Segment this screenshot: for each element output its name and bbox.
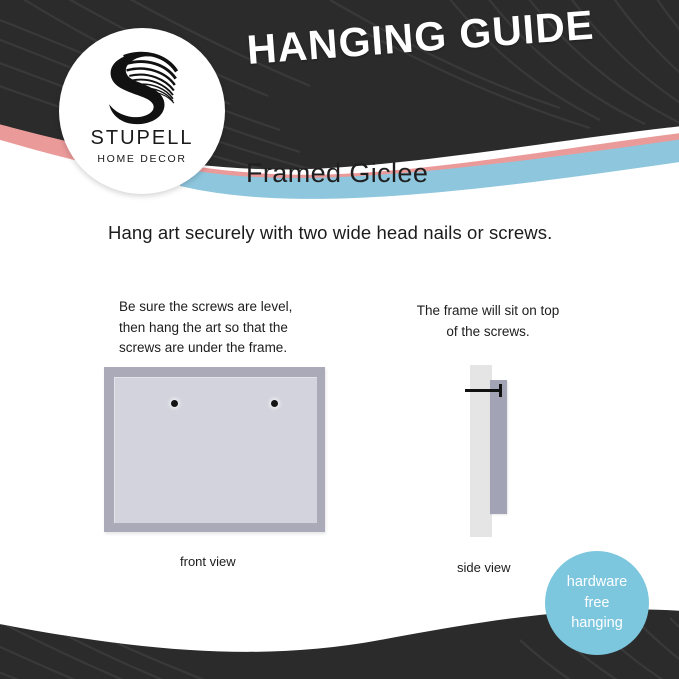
- front-caption-line-2: then hang the art so that the: [119, 318, 339, 339]
- front-caption-line-1: Be sure the screws are level,: [119, 297, 339, 318]
- brand-tagline: HOME DECOR: [97, 154, 186, 165]
- brand-logo-badge: STUPELL HOME DECOR: [59, 28, 225, 194]
- hardware-free-hanging-badge: hardware free hanging: [545, 551, 649, 655]
- side-view-screw-shaft-icon: [465, 389, 501, 392]
- badge-line-3: hanging: [571, 613, 623, 634]
- front-view-caption: Be sure the screws are level, then hang …: [119, 297, 339, 359]
- lead-instruction-text: Hang art securely with two wide head nai…: [108, 222, 552, 244]
- side-view-screw-head-icon: [499, 384, 502, 397]
- side-view-frame: [490, 380, 507, 514]
- side-view-frame-diagram: [470, 365, 532, 537]
- screw-dot-left-icon: [171, 400, 178, 407]
- stupell-swoosh-logo-icon: [96, 44, 188, 126]
- front-view-frame-diagram: [104, 367, 325, 532]
- side-view-caption: The frame will sit on top of the screws.: [400, 301, 576, 342]
- front-view-mat-area: [114, 377, 317, 523]
- side-view-label: side view: [457, 560, 510, 575]
- screw-dot-right-icon: [271, 400, 278, 407]
- side-caption-line-2: of the screws.: [400, 322, 576, 343]
- page-title: HANGING GUIDE: [245, 2, 595, 74]
- front-view-label: front view: [180, 554, 236, 569]
- hanging-guide-page: STUPELL HOME DECOR HANGING GUIDE Framed …: [0, 0, 679, 679]
- brand-name: STUPELL: [91, 128, 194, 148]
- side-caption-line-1: The frame will sit on top: [400, 301, 576, 322]
- product-type-heading: Framed Giclee: [246, 158, 428, 189]
- badge-line-1: hardware: [567, 572, 627, 593]
- front-caption-line-3: screws are under the frame.: [119, 338, 339, 359]
- badge-line-2: free: [585, 593, 610, 614]
